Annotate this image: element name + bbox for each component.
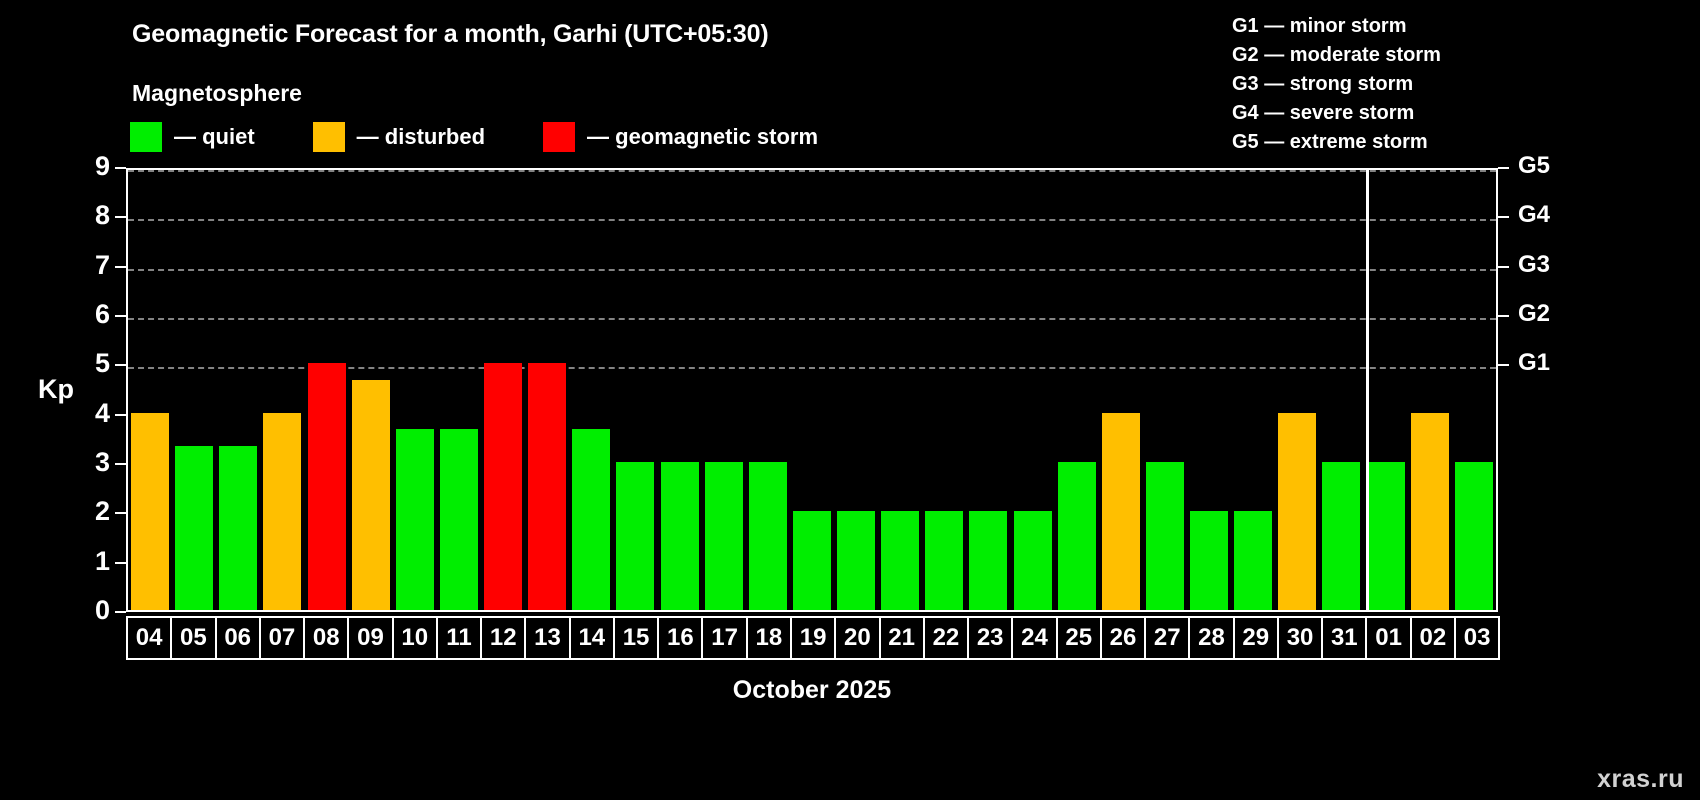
g-tick-label: G2 <box>1518 300 1550 328</box>
day-label-text: 14 <box>578 624 605 652</box>
g-tick-label: G1 <box>1518 349 1550 377</box>
bar-day-27[interactable] <box>1146 462 1184 610</box>
day-label-text: 28 <box>1198 624 1225 652</box>
legend-label-disturbed: — disturbed <box>357 124 485 150</box>
bar-cell <box>1319 170 1363 610</box>
bar-cell <box>834 170 878 610</box>
day-label-15[interactable]: 15 <box>613 616 659 660</box>
bar-cell <box>393 170 437 610</box>
disturbed-color-swatch <box>313 122 345 152</box>
g-scale-line-g2: G2 — moderate storm <box>1232 41 1441 70</box>
y-tick-mark <box>115 364 126 366</box>
bar-day-31[interactable] <box>1322 462 1360 610</box>
bar-day-23[interactable] <box>969 511 1007 610</box>
bar-cell <box>790 170 834 610</box>
day-label-text: 12 <box>490 624 517 652</box>
bar-day-28[interactable] <box>1190 511 1228 610</box>
y-tick-mark <box>115 216 126 218</box>
bar-day-19[interactable] <box>793 511 831 610</box>
day-label-text: 10 <box>401 624 428 652</box>
x-axis-day-labels: 0405060708091011121314151617181920212223… <box>126 616 1498 660</box>
bar-day-03[interactable] <box>1455 462 1493 610</box>
bar-day-14[interactable] <box>572 429 610 610</box>
bar-day-26[interactable] <box>1102 413 1140 610</box>
bar-day-22[interactable] <box>925 511 963 610</box>
bar-cell <box>1231 170 1275 610</box>
bar-cell <box>1055 170 1099 610</box>
g-tick-label: G5 <box>1518 152 1550 180</box>
day-label-30[interactable]: 30 <box>1277 616 1323 660</box>
bar-day-02[interactable] <box>1411 413 1449 610</box>
bar-day-08[interactable] <box>308 363 346 610</box>
y-tick-label: 1 <box>95 546 110 576</box>
bar-cell <box>525 170 569 610</box>
magnetosphere-legend: — quiet — disturbed — geomagnetic storm <box>130 122 876 152</box>
g-scale-legend: G1 — minor storm G2 — moderate storm G3 … <box>1232 12 1441 157</box>
bar-cell <box>1275 170 1319 610</box>
g-tick-mark <box>1498 216 1509 218</box>
bar-cell <box>437 170 481 610</box>
bar-cell <box>305 170 349 610</box>
day-label-text: 26 <box>1110 624 1137 652</box>
day-label-text: 06 <box>224 624 251 652</box>
x-axis-title: October 2025 <box>126 676 1498 705</box>
y-tick-mark <box>115 266 126 268</box>
day-label-27[interactable]: 27 <box>1144 616 1190 660</box>
day-label-16[interactable]: 16 <box>657 616 703 660</box>
g-scale-axis: G1G2G3G4G5 <box>1498 168 1638 612</box>
bar-cell <box>1099 170 1143 610</box>
day-label-text: 23 <box>977 624 1004 652</box>
bar-cell <box>966 170 1010 610</box>
day-label-21[interactable]: 21 <box>879 616 925 660</box>
day-label-28[interactable]: 28 <box>1188 616 1234 660</box>
y-tick-mark <box>115 562 126 564</box>
day-label-text: 08 <box>313 624 340 652</box>
bar-cell <box>1143 170 1187 610</box>
day-label-text: 22 <box>933 624 960 652</box>
day-label-text: 07 <box>269 624 296 652</box>
page-title: Geomagnetic Forecast for a month, Garhi … <box>132 20 768 49</box>
day-label-12[interactable]: 12 <box>480 616 526 660</box>
bar-cell <box>260 170 304 610</box>
bar-cell <box>349 170 393 610</box>
day-label-text: 20 <box>844 624 871 652</box>
g-tick-label: G3 <box>1518 251 1550 279</box>
bar-cell <box>216 170 260 610</box>
day-label-text: 04 <box>136 624 163 652</box>
g-tick-mark <box>1498 167 1509 169</box>
day-label-text: 03 <box>1464 624 1491 652</box>
storm-color-swatch <box>543 122 575 152</box>
day-label-01[interactable]: 01 <box>1365 616 1411 660</box>
y-tick-mark <box>115 611 126 613</box>
day-label-text: 05 <box>180 624 207 652</box>
legend-label-storm: — geomagnetic storm <box>587 124 818 150</box>
day-label-text: 21 <box>888 624 915 652</box>
plot-area <box>126 168 1498 612</box>
day-label-text: 16 <box>667 624 694 652</box>
y-tick-label: 3 <box>95 447 110 477</box>
day-label-text: 09 <box>357 624 384 652</box>
legend-item-storm: — geomagnetic storm <box>543 122 818 152</box>
bar-day-18[interactable] <box>749 462 787 610</box>
day-label-text: 31 <box>1331 624 1358 652</box>
y-tick-label: 7 <box>95 250 110 280</box>
bar-cell <box>569 170 613 610</box>
day-label-09[interactable]: 09 <box>347 616 393 660</box>
y-tick-label: 4 <box>95 398 110 428</box>
day-label-25[interactable]: 25 <box>1056 616 1102 660</box>
day-label-text: 29 <box>1242 624 1269 652</box>
bar-day-12[interactable] <box>484 363 522 610</box>
day-label-29[interactable]: 29 <box>1233 616 1279 660</box>
day-label-03[interactable]: 03 <box>1454 616 1500 660</box>
g-scale-line-g1: G1 — minor storm <box>1232 12 1441 41</box>
day-label-20[interactable]: 20 <box>834 616 880 660</box>
day-label-text: 24 <box>1021 624 1048 652</box>
bar-day-05[interactable] <box>175 446 213 610</box>
bar-cell <box>1187 170 1231 610</box>
day-label-18[interactable]: 18 <box>746 616 792 660</box>
y-tick-mark <box>115 315 126 317</box>
y-tick-label: 9 <box>95 151 110 181</box>
bar-cell <box>702 170 746 610</box>
quiet-color-swatch <box>130 122 162 152</box>
bar-cell <box>613 170 657 610</box>
watermark: xras.ru <box>1597 765 1684 794</box>
g-tick-mark <box>1498 364 1509 366</box>
bar-cell <box>1011 170 1055 610</box>
day-label-10[interactable]: 10 <box>392 616 438 660</box>
bar-day-29[interactable] <box>1234 511 1272 610</box>
day-label-04[interactable]: 04 <box>126 616 172 660</box>
bar-cell <box>746 170 790 610</box>
bar-day-13[interactable] <box>528 363 566 610</box>
bar-day-07[interactable] <box>263 413 301 610</box>
day-label-08[interactable]: 08 <box>303 616 349 660</box>
today-divider-line <box>1366 168 1369 612</box>
y-tick-label: 8 <box>95 200 110 230</box>
bar-day-16[interactable] <box>661 462 699 610</box>
day-label-text: 27 <box>1154 624 1181 652</box>
day-label-17[interactable]: 17 <box>701 616 747 660</box>
bar-cell <box>878 170 922 610</box>
day-label-text: 01 <box>1375 624 1402 652</box>
g-scale-line-g3: G3 — strong storm <box>1232 70 1441 99</box>
y-tick-label: 5 <box>95 348 110 378</box>
day-label-06[interactable]: 06 <box>215 616 261 660</box>
day-label-31[interactable]: 31 <box>1321 616 1367 660</box>
y-axis: 0123456789 <box>0 168 126 612</box>
day-label-text: 13 <box>534 624 561 652</box>
g-tick-mark <box>1498 315 1509 317</box>
bar-cell <box>1364 170 1408 610</box>
day-label-14[interactable]: 14 <box>569 616 615 660</box>
day-label-text: 19 <box>800 624 827 652</box>
bar-cell <box>172 170 216 610</box>
bar-day-06[interactable] <box>219 446 257 610</box>
day-label-text: 30 <box>1287 624 1314 652</box>
magnetosphere-label: Magnetosphere <box>132 80 302 107</box>
bar-cell <box>1408 170 1452 610</box>
legend-item-quiet: — quiet <box>130 122 255 152</box>
g-scale-line-g5: G5 — extreme storm <box>1232 128 1441 157</box>
y-tick-mark <box>115 463 126 465</box>
bar-cell <box>481 170 525 610</box>
y-tick-mark <box>115 414 126 416</box>
bar-day-10[interactable] <box>396 429 434 610</box>
g-scale-line-g4: G4 — severe storm <box>1232 99 1441 128</box>
day-label-07[interactable]: 07 <box>259 616 305 660</box>
day-label-26[interactable]: 26 <box>1100 616 1146 660</box>
bar-day-01[interactable] <box>1367 462 1405 610</box>
bar-cell <box>1452 170 1496 610</box>
y-tick-mark <box>115 167 126 169</box>
bars-layer <box>128 170 1496 610</box>
bar-day-25[interactable] <box>1058 462 1096 610</box>
bar-day-20[interactable] <box>837 511 875 610</box>
bar-day-09[interactable] <box>352 380 390 610</box>
g-tick-mark <box>1498 266 1509 268</box>
day-label-02[interactable]: 02 <box>1410 616 1456 660</box>
g-tick-label: G4 <box>1518 201 1550 229</box>
day-label-11[interactable]: 11 <box>436 616 482 660</box>
day-label-text: 18 <box>756 624 783 652</box>
y-tick-label: 2 <box>95 496 110 526</box>
day-label-text: 11 <box>446 624 471 652</box>
bar-cell <box>922 170 966 610</box>
bar-day-17[interactable] <box>705 462 743 610</box>
bar-day-11[interactable] <box>440 429 478 610</box>
bar-day-21[interactable] <box>881 511 919 610</box>
day-label-text: 15 <box>623 624 650 652</box>
y-tick-label: 0 <box>95 595 110 625</box>
bar-day-30[interactable] <box>1278 413 1316 610</box>
day-label-text: 02 <box>1419 624 1446 652</box>
bar-day-24[interactable] <box>1014 511 1052 610</box>
legend-label-quiet: — quiet <box>174 124 255 150</box>
day-label-text: 17 <box>711 624 738 652</box>
day-label-05[interactable]: 05 <box>170 616 216 660</box>
legend-item-disturbed: — disturbed <box>313 122 485 152</box>
day-label-13[interactable]: 13 <box>524 616 570 660</box>
bar-day-15[interactable] <box>616 462 654 610</box>
y-tick-label: 6 <box>95 299 110 329</box>
day-label-24[interactable]: 24 <box>1011 616 1057 660</box>
bar-cell <box>658 170 702 610</box>
day-label-text: 25 <box>1065 624 1092 652</box>
y-tick-mark <box>115 512 126 514</box>
day-label-23[interactable]: 23 <box>967 616 1013 660</box>
day-label-19[interactable]: 19 <box>790 616 836 660</box>
day-label-22[interactable]: 22 <box>923 616 969 660</box>
bar-cell <box>128 170 172 610</box>
bar-day-04[interactable] <box>131 413 169 610</box>
